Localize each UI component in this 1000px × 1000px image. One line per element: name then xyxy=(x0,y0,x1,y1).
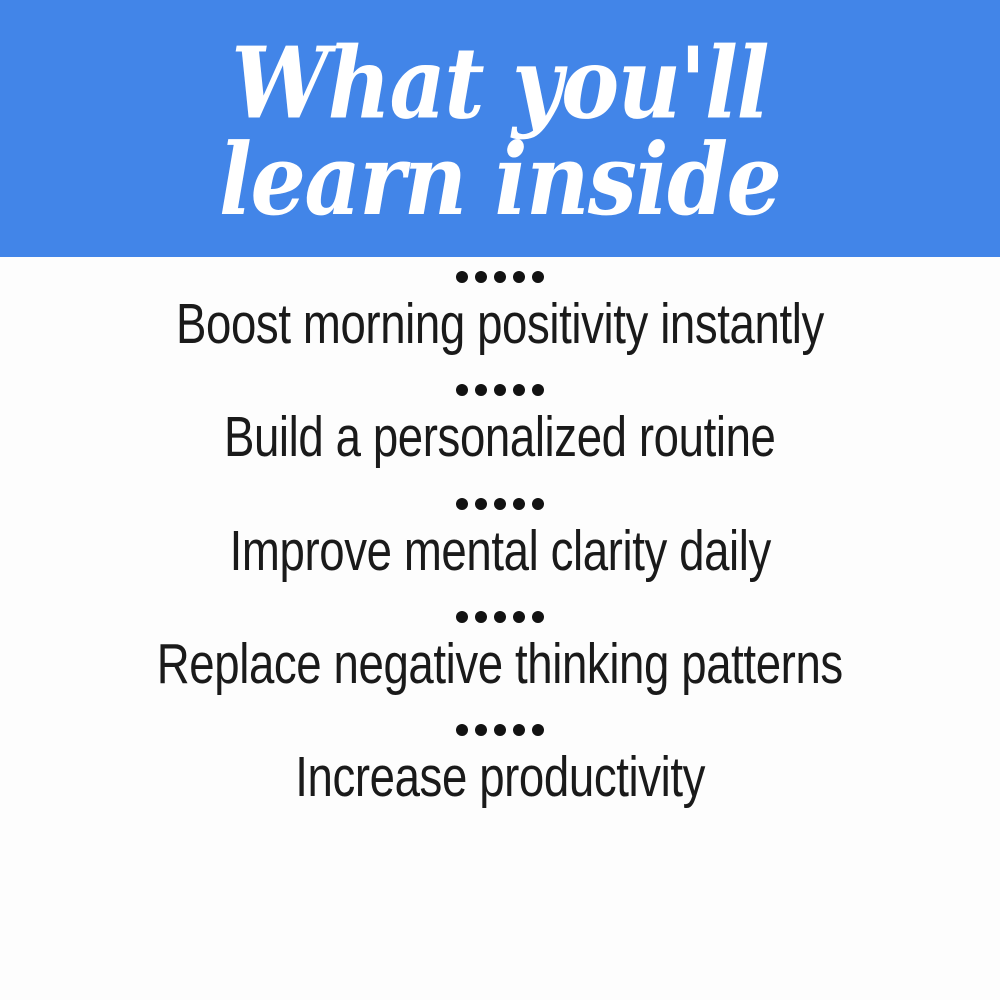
dot-icon xyxy=(532,498,544,510)
dot-icon xyxy=(513,498,525,510)
dot-icon xyxy=(456,498,468,510)
benefit-label: Build a personalized routine xyxy=(224,408,776,467)
dot-icon xyxy=(513,611,525,623)
dot-icon xyxy=(532,384,544,396)
dot-icon xyxy=(513,384,525,396)
dot-icon xyxy=(475,271,487,283)
list-item: Replace negative thinking patterns xyxy=(0,610,1000,694)
dot-icon xyxy=(513,271,525,283)
header-band: What you'll learn inside xyxy=(0,0,1000,257)
poster-canvas: What you'll learn inside Boost morning p… xyxy=(0,0,1000,1000)
page-title: What you'll learn inside xyxy=(219,36,781,227)
benefit-label: Boost morning positivity instantly xyxy=(176,295,824,354)
list-item: Boost morning positivity instantly xyxy=(0,270,1000,354)
dot-icon xyxy=(475,611,487,623)
benefit-label: Improve mental clarity daily xyxy=(229,522,770,581)
dot-icon xyxy=(494,724,506,736)
dot-icon xyxy=(532,724,544,736)
dot-icon xyxy=(494,271,506,283)
dot-icon xyxy=(494,611,506,623)
list-item: Improve mental clarity daily xyxy=(0,497,1000,581)
page-title-line-1: What you'll xyxy=(219,36,781,131)
five-dots-separator-icon xyxy=(456,270,544,284)
dot-icon xyxy=(456,611,468,623)
list-item: Increase productivity xyxy=(0,723,1000,807)
dot-icon xyxy=(494,498,506,510)
dot-icon xyxy=(475,724,487,736)
five-dots-separator-icon xyxy=(456,383,544,397)
dot-icon xyxy=(456,724,468,736)
list-item: Build a personalized routine xyxy=(0,383,1000,467)
dot-icon xyxy=(475,384,487,396)
benefits-list: Boost morning positivity instantly Build… xyxy=(0,257,1000,1000)
dot-icon xyxy=(456,271,468,283)
five-dots-separator-icon xyxy=(456,723,544,737)
dot-icon xyxy=(532,271,544,283)
benefit-label: Replace negative thinking patterns xyxy=(157,635,843,694)
dot-icon xyxy=(494,384,506,396)
dot-icon xyxy=(475,498,487,510)
five-dots-separator-icon xyxy=(456,610,544,624)
dot-icon xyxy=(456,384,468,396)
dot-icon xyxy=(532,611,544,623)
page-title-line-2: learn inside xyxy=(219,133,781,228)
benefit-label: Increase productivity xyxy=(295,748,705,807)
five-dots-separator-icon xyxy=(456,497,544,511)
dot-icon xyxy=(513,724,525,736)
